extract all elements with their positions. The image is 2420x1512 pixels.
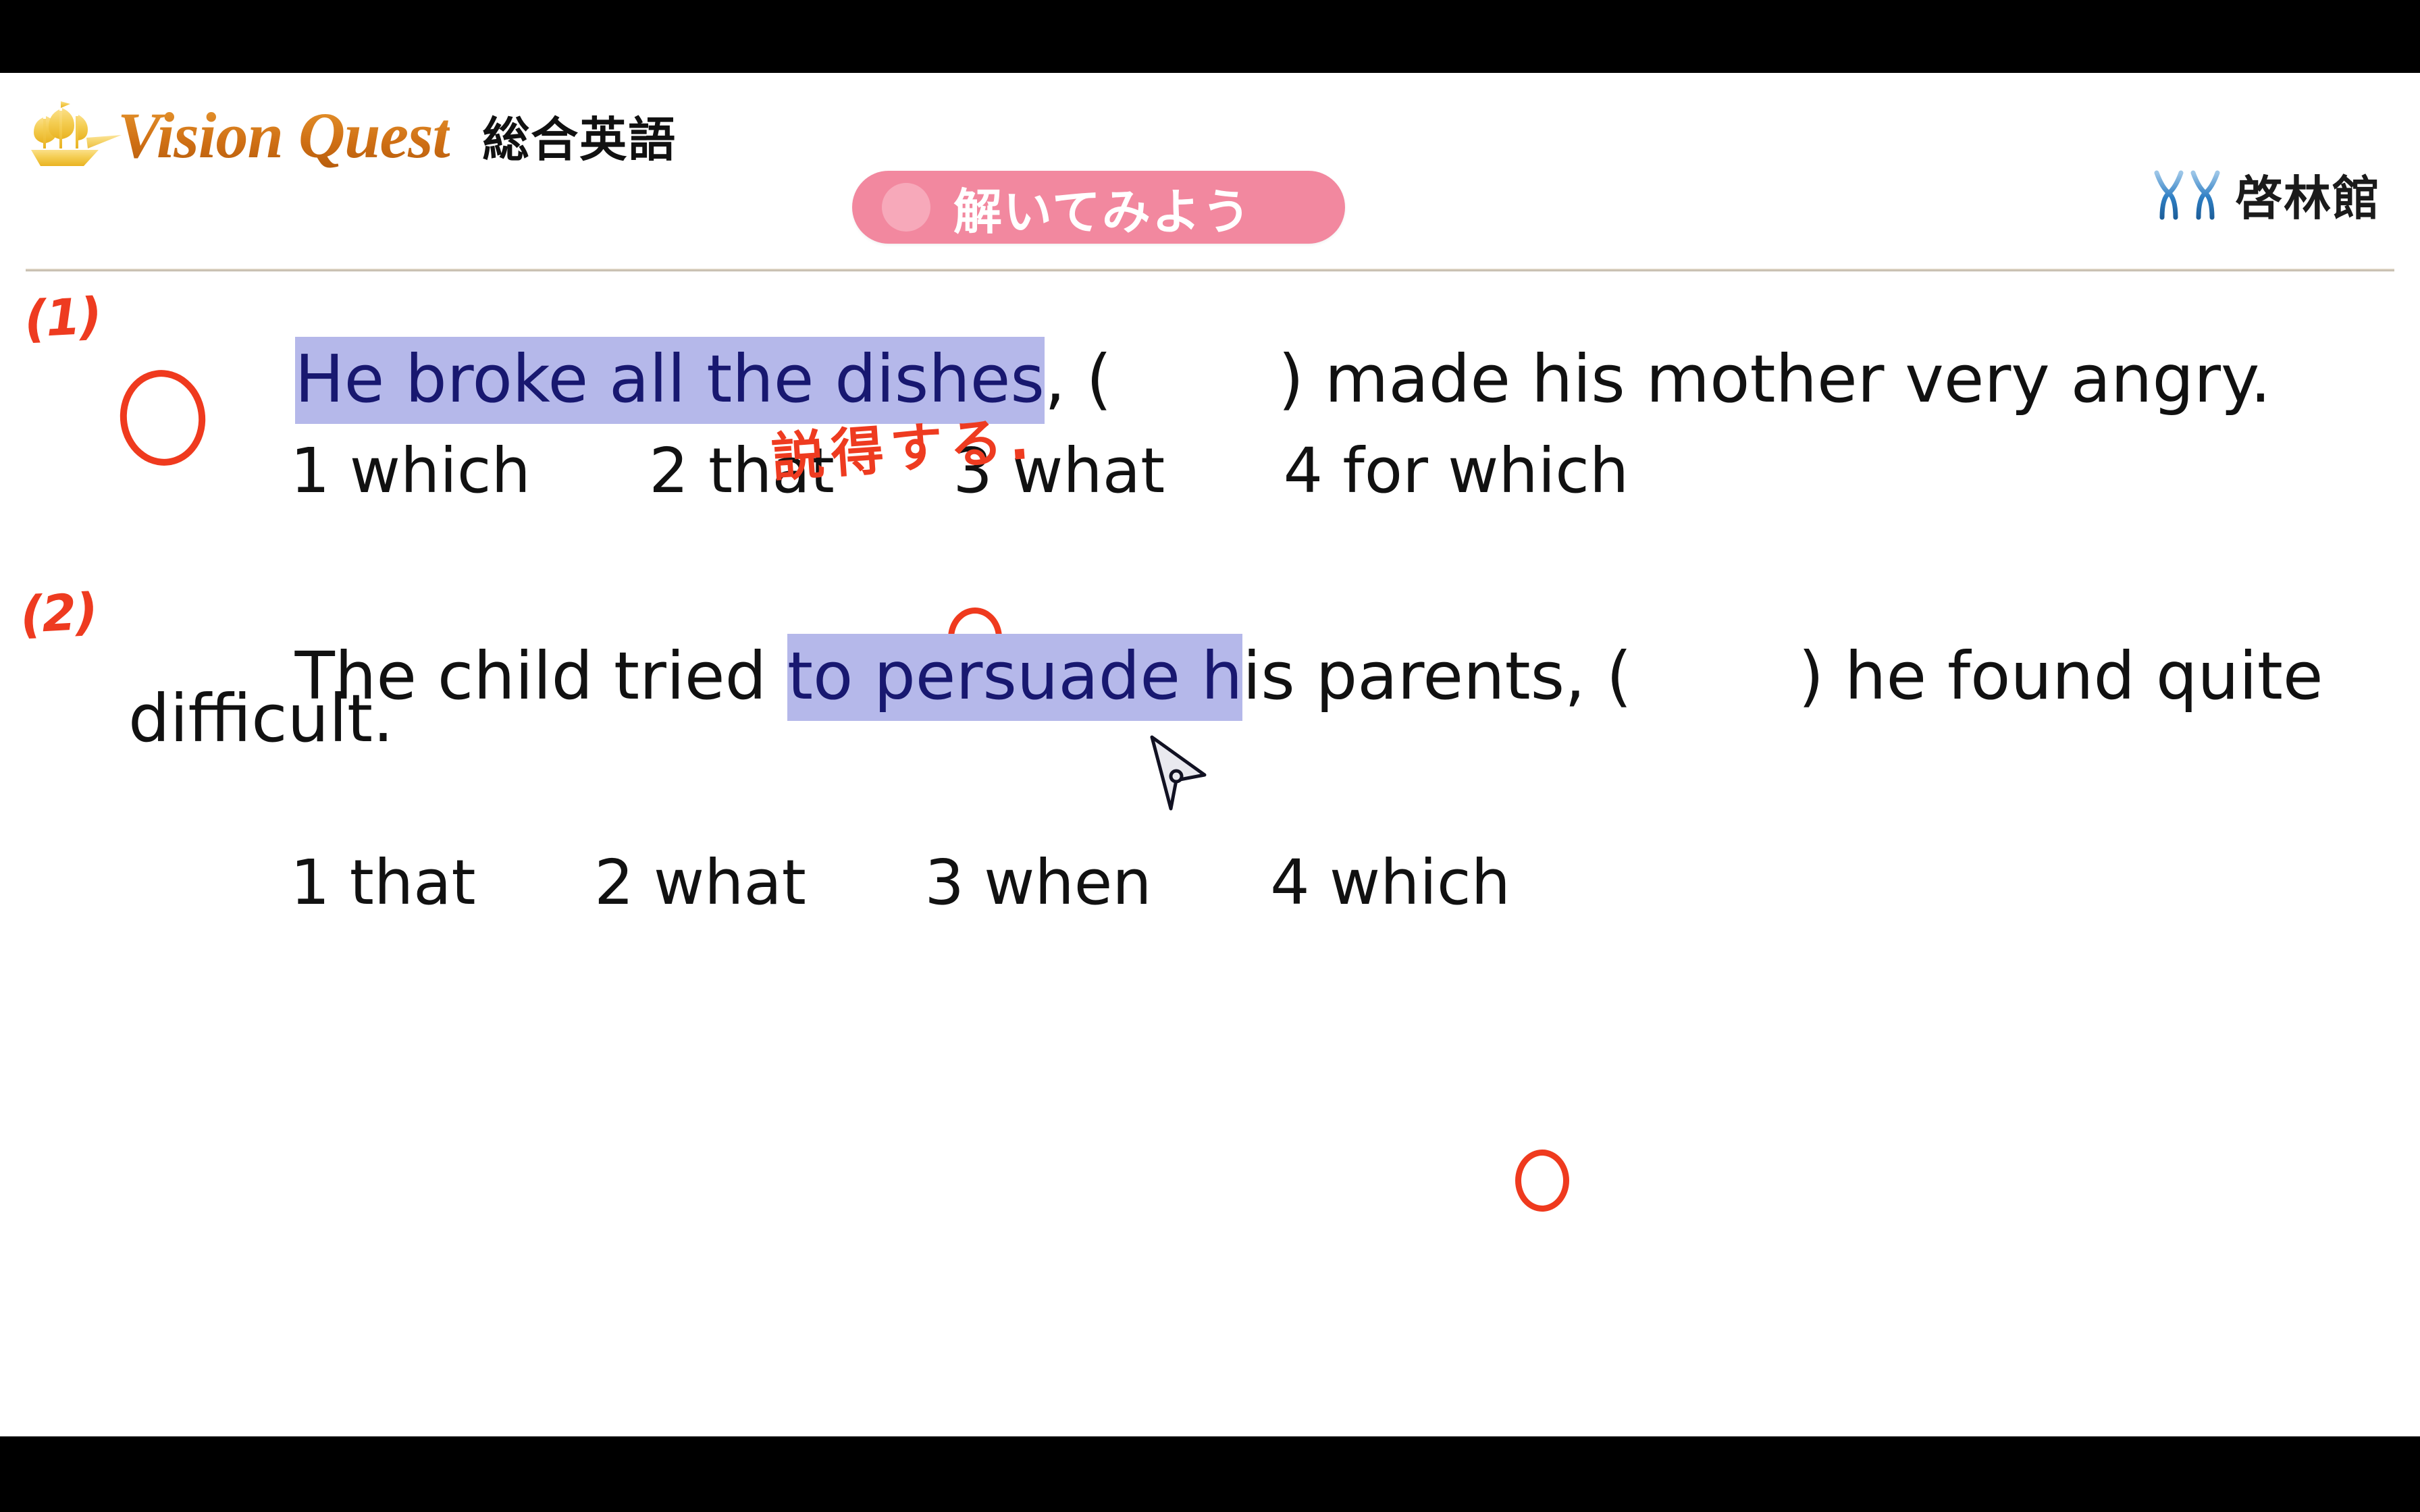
sentence-remainder: is parents, ( ) he found quite <box>1242 638 2323 714</box>
choice-2[interactable]: 2 that <box>649 435 835 507</box>
keirinkan-mark-icon <box>2150 166 2224 224</box>
choice-1-num: 1 <box>290 846 330 919</box>
choice-3-text: when <box>984 846 1151 919</box>
choice-gap <box>835 435 953 507</box>
question-sentence-line2: difficult. <box>128 686 394 751</box>
choice-4-text: for which <box>1342 435 1629 507</box>
slide-page: Vision Quest 総合英語 解いてみよう <box>0 73 2420 1436</box>
sailing-ship-icon <box>26 96 127 175</box>
question-sentence: The child tried to persuade his parents,… <box>128 578 2323 774</box>
letterbox-bar-top <box>0 0 2420 73</box>
choice-gap <box>476 846 594 919</box>
choice-4-num: 4 <box>1270 846 1310 919</box>
publisher-name: 啓林館 <box>2235 161 2381 229</box>
activity-badge[interactable]: 解いてみよう <box>852 171 1345 244</box>
choice-2-text: what <box>654 846 806 919</box>
choice-3[interactable]: 3 what <box>953 435 1165 507</box>
choice-3[interactable]: 3 when <box>924 846 1151 919</box>
choice-gap <box>806 846 924 919</box>
badge-dot-icon <box>882 183 930 232</box>
choice-4[interactable]: 4 which <box>1270 846 1510 919</box>
choice-3-num: 3 <box>953 435 993 507</box>
exercise-content: (1) He broke all the dishes, ( ) made hi… <box>0 275 2420 782</box>
header-divider <box>26 269 2394 272</box>
brand-subtitle: 総合英語 <box>482 102 677 170</box>
highlighted-phrase: to persuade h <box>787 634 1242 721</box>
choice-4-text: which <box>1330 846 1510 919</box>
brand-wordmark: Vision Quest <box>117 103 450 168</box>
publisher-logo: 啓林館 <box>2150 161 2381 229</box>
activity-badge-label: 解いてみよう <box>953 172 1252 243</box>
choice-4-num: 4 <box>1284 435 1323 507</box>
choice-4[interactable]: 4 for which <box>1284 435 1629 507</box>
choice-1-num: 1 <box>290 435 330 507</box>
choice-1-text: which <box>350 435 531 507</box>
choice-gap <box>1165 435 1283 507</box>
choice-1-text: that <box>350 846 476 919</box>
page-header: Vision Quest 総合英語 解いてみよう <box>0 73 2420 194</box>
choice-3-num: 3 <box>924 846 964 919</box>
brand-logo: Vision Quest 総合英語 <box>26 85 677 186</box>
question-number-marker: (1) <box>23 287 102 349</box>
question-number-marker: (2) <box>19 583 98 645</box>
choice-2[interactable]: 2 what <box>594 846 806 919</box>
letterbox-bar-bottom <box>0 1436 2420 1512</box>
choice-1[interactable]: 1 which <box>290 435 531 507</box>
question-block: (1) He broke all the dishes, ( ) made hi… <box>0 275 2420 498</box>
choice-2-text: that <box>708 435 835 507</box>
choice-gap <box>531 435 649 507</box>
comma-circle-marker <box>1515 1150 1569 1212</box>
choice-2-num: 2 <box>594 846 634 919</box>
question-block: 説得する. (2) The child tried to persuade hi… <box>0 498 2420 782</box>
choice-2-num: 2 <box>649 435 689 507</box>
choice-row: 1 that 2 what 3 when 4 which <box>132 790 1510 976</box>
choice-3-text: what <box>1012 435 1165 507</box>
choice-1[interactable]: 1 that <box>290 846 476 919</box>
choice-gap <box>1152 846 1270 919</box>
